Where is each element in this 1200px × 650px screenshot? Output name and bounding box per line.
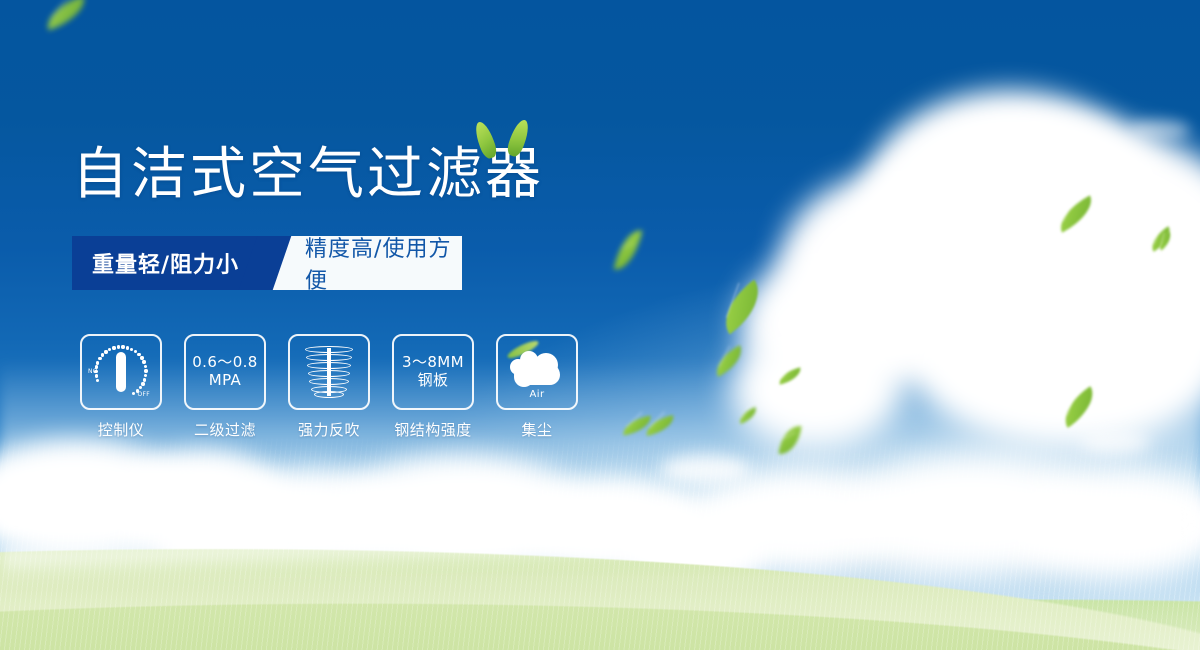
air-cloud-icon: Air xyxy=(508,347,566,397)
cartridge-disc-icon xyxy=(309,378,349,385)
pressure-unit: MPA xyxy=(192,372,258,390)
feature-icon-box: 0.6～0.8 MPA xyxy=(184,334,266,410)
gauge-tick-dot xyxy=(117,345,120,348)
gauge-tick-dot xyxy=(95,374,98,377)
steel-plate-text-icon: 3～8MM 钢板 xyxy=(402,354,464,389)
gauge-tick-dot xyxy=(96,361,99,364)
feature-item-steel-strength[interactable]: 3～8MM 钢板 钢结构强度 xyxy=(392,334,474,440)
gauge-tick-dot xyxy=(136,389,139,392)
cartridge-disc-icon xyxy=(306,354,352,361)
gauge-tick-dot xyxy=(112,346,115,349)
steel-material: 钢板 xyxy=(402,372,464,390)
subtitle-bar: 重量轻/阻力小 精度高/使用方便 xyxy=(72,236,462,290)
filter-cartridge-stack-icon xyxy=(305,346,353,398)
gauge-label-off: OFF xyxy=(137,391,150,398)
gauge-tick-dot xyxy=(130,348,133,351)
gauge-tick-dot xyxy=(142,360,145,363)
gauge-tick-dot xyxy=(94,370,97,373)
cartridge-disc-icon xyxy=(305,346,353,353)
feature-label: 强力反吹 xyxy=(298,419,360,440)
subtitle-left: 重量轻/阻力小 xyxy=(72,236,265,290)
page-title: 自洁式空气过滤器 xyxy=(72,144,544,206)
feature-item-reverse-blow[interactable]: 强力反吹 xyxy=(288,334,370,440)
cartridge-disc-icon xyxy=(308,370,350,377)
gauge-tick-dot xyxy=(140,356,143,359)
feature-icon-box xyxy=(288,334,370,410)
gauge-tick-dot xyxy=(108,348,111,351)
feature-icon-box: 3～8MM 钢板 xyxy=(392,334,474,410)
feature-icon-box: NO OFF xyxy=(80,334,162,410)
pressure-text-icon: 0.6～0.8 MPA xyxy=(192,354,258,389)
feature-list: NO OFF 控制仪 0.6～0.8 MPA 二级过滤 强 xyxy=(80,334,578,440)
steel-thickness: 3～8MM xyxy=(402,353,464,371)
cloud-wisp xyxy=(1130,120,1190,140)
gauge-tick-dot xyxy=(144,369,147,372)
gauge-tick-dot xyxy=(101,353,104,356)
feature-label: 二级过滤 xyxy=(194,419,256,440)
feature-label: 集尘 xyxy=(521,419,552,440)
hero-banner: 自洁式空气过滤器 重量轻/阻力小 精度高/使用方便 NO OFF 控制仪 xyxy=(0,0,1200,650)
gauge-tick-dot xyxy=(98,357,101,360)
subtitle-right: 精度高/使用方便 xyxy=(265,236,462,290)
feature-label: 控制仪 xyxy=(98,419,145,440)
gauge-tick-dot xyxy=(141,382,144,385)
pressure-value: 0.6～0.8 xyxy=(192,353,258,371)
leaf-right-icon xyxy=(505,118,532,159)
cloud-body-icon xyxy=(514,363,560,385)
feature-icon-box: Air xyxy=(496,334,578,410)
feature-item-dust-collection[interactable]: Air 集尘 xyxy=(496,334,578,440)
gauge-tick-dot xyxy=(104,350,107,353)
cartridge-disc-icon xyxy=(307,362,351,369)
feature-item-two-stage-filter[interactable]: 0.6～0.8 MPA 二级过滤 xyxy=(184,334,266,440)
gauge-tick-dot xyxy=(144,374,147,377)
two-leaves-icon xyxy=(478,113,534,169)
gauge-tick-dot xyxy=(95,365,98,368)
feature-item-control-gauge[interactable]: NO OFF 控制仪 xyxy=(80,334,162,440)
gauge-tick-dot xyxy=(143,378,146,381)
gauge-tick-dot xyxy=(144,365,147,368)
air-label: Air xyxy=(508,389,566,400)
cartridge-disc-icon xyxy=(314,391,344,398)
gauge-tick-dot xyxy=(139,386,142,389)
feature-label: 钢结构强度 xyxy=(394,419,472,440)
gauge-tick-dot xyxy=(126,346,129,349)
gauge-dial-icon: NO OFF xyxy=(90,344,152,400)
gauge-needle-icon xyxy=(116,352,126,392)
gauge-tick-dot xyxy=(96,379,99,382)
gauge-tick-dot xyxy=(132,392,135,395)
gauge-tick-dot xyxy=(121,345,124,348)
